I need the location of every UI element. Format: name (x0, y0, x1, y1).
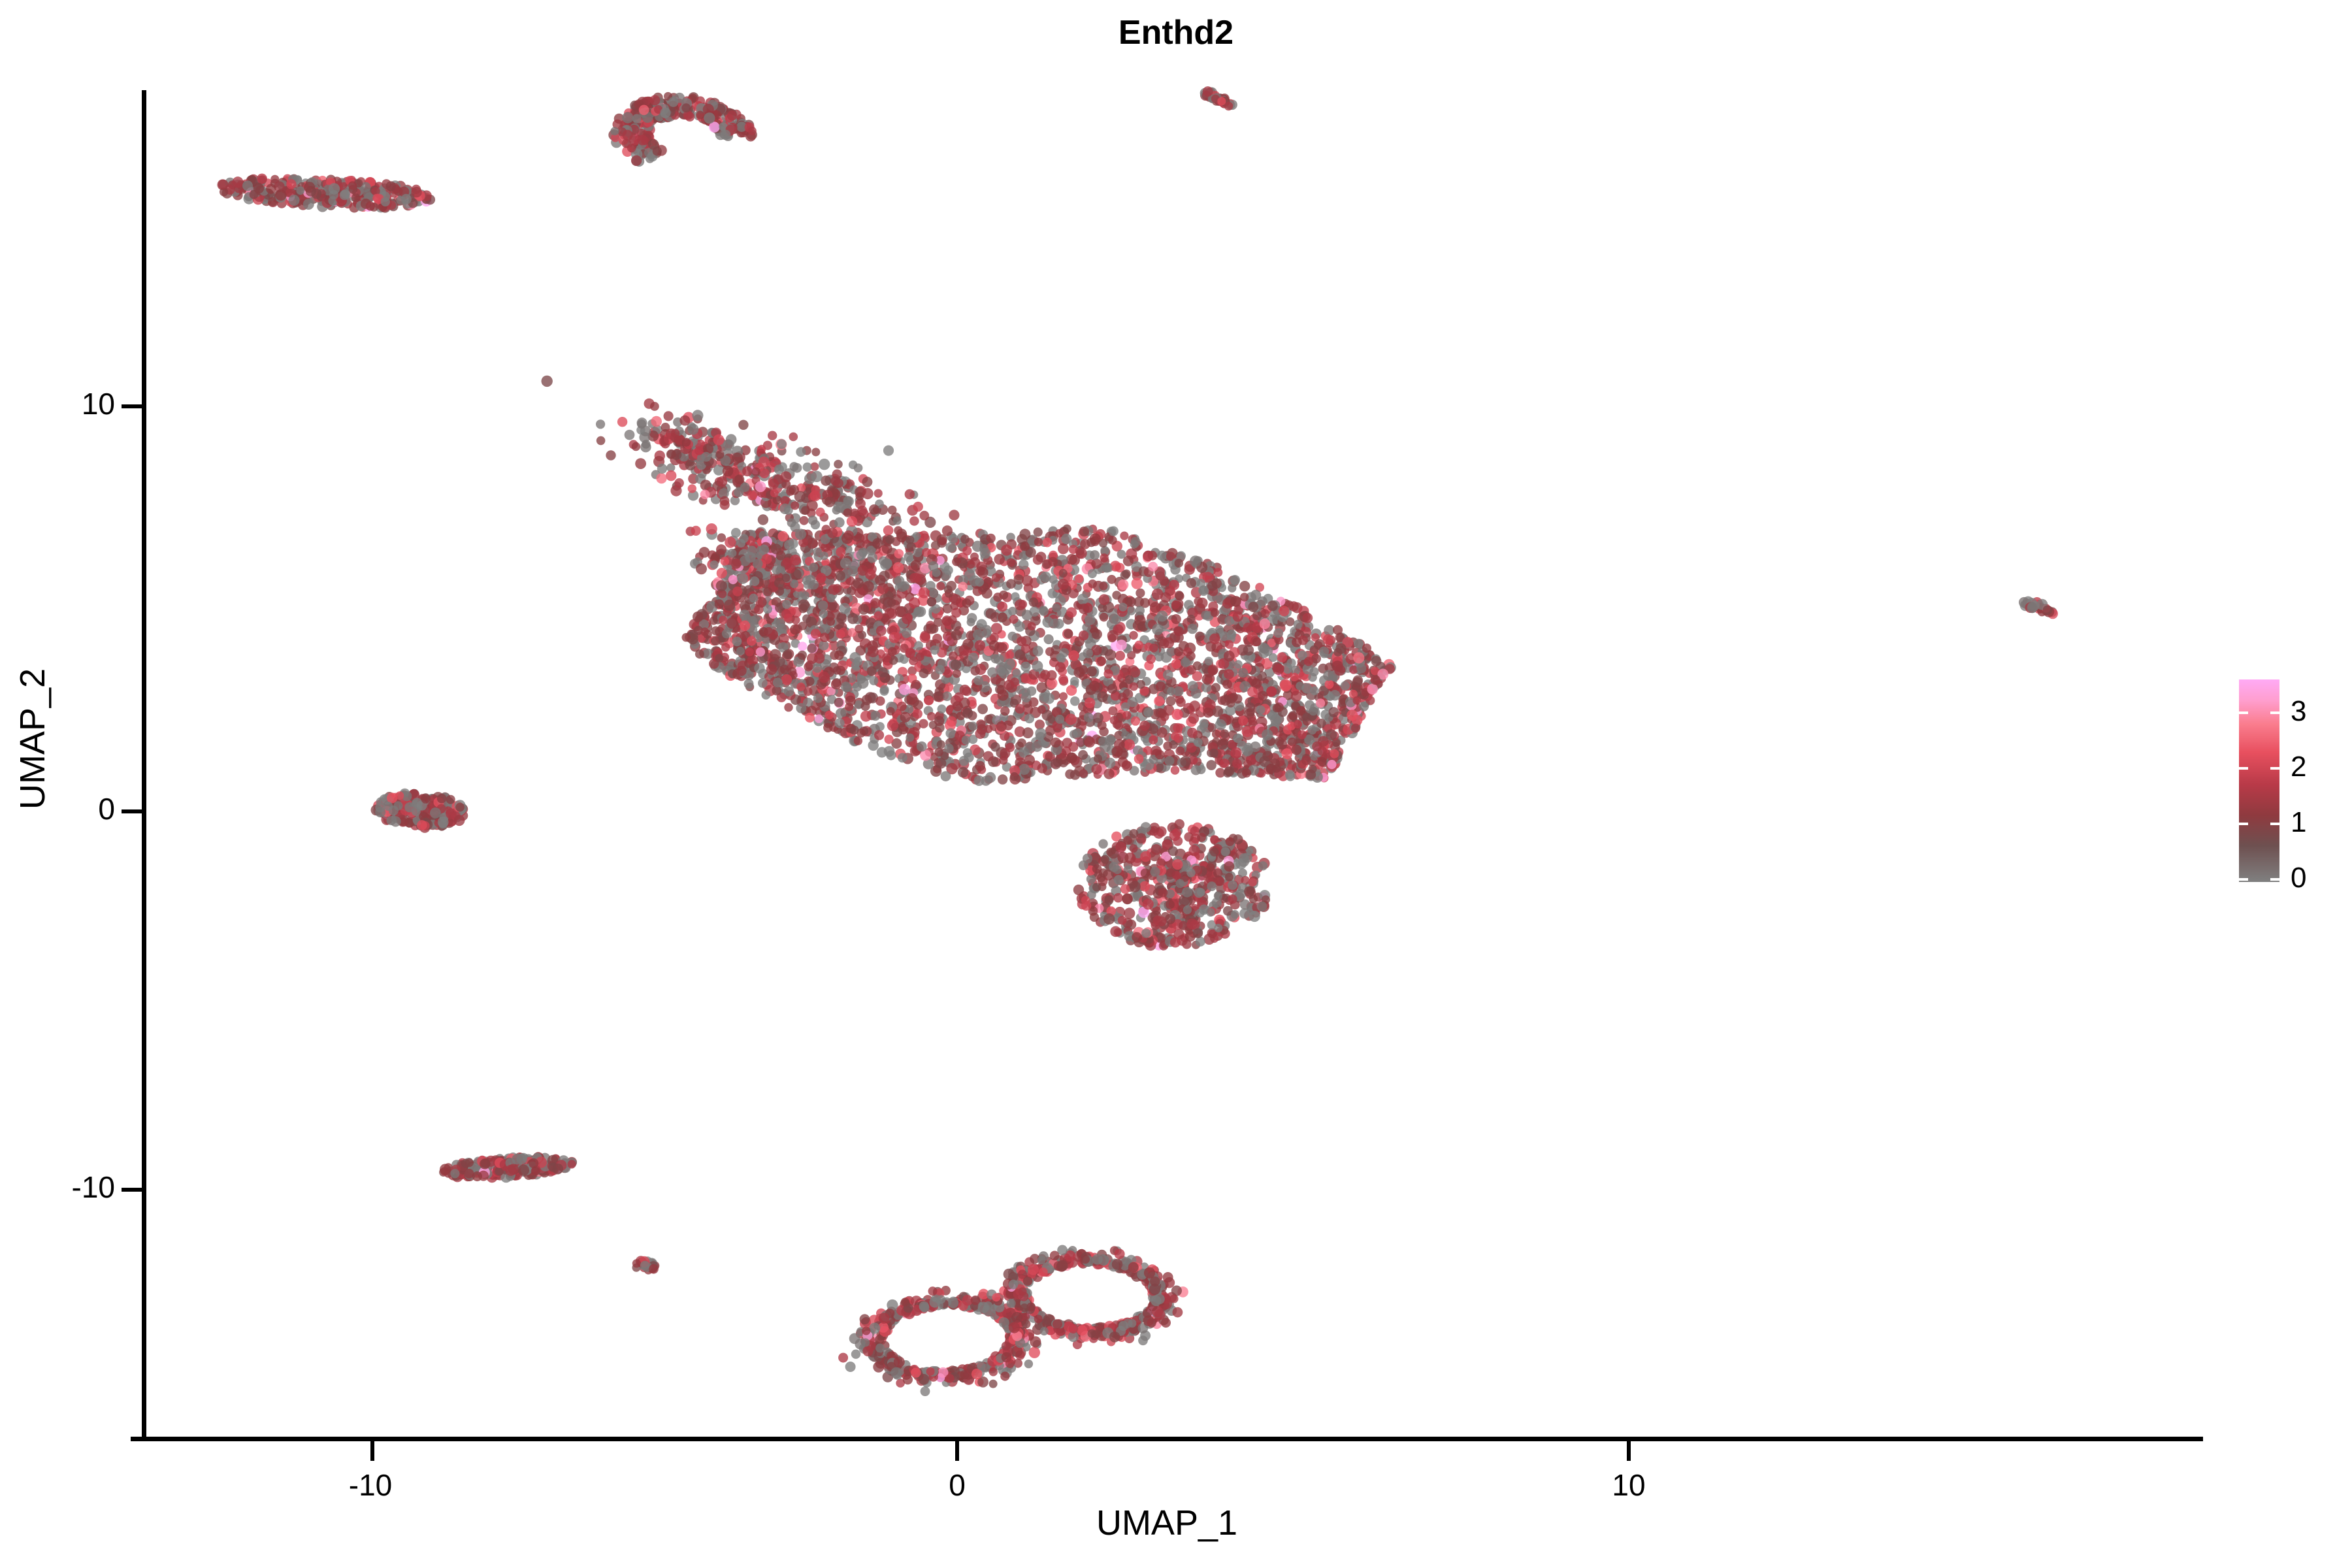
colorbar-label-3: 3 (2291, 697, 2306, 726)
y-axis-title: UMAP_2 (12, 536, 53, 941)
colorbar-label-0: 0 (2291, 864, 2306, 892)
x-tick-label--10: -10 (305, 1467, 436, 1503)
x-tick-mark-10 (1627, 1441, 1631, 1461)
x-tick-mark--10 (370, 1441, 374, 1461)
colorbar-tick-3-right (2270, 711, 2279, 714)
x-axis-line (131, 1437, 2203, 1441)
colorbar-tick-1-right (2270, 823, 2279, 825)
colorbar-gradient (2239, 679, 2279, 882)
scatter-plot-area (146, 90, 2202, 1437)
colorbar-tick-0-left (2239, 878, 2248, 881)
x-tick-label-0: 0 (892, 1467, 1022, 1503)
page-title: Enthd2 (0, 13, 2352, 52)
umap-feature-plot: Enthd2 10 0 -10 -10 0 10 UMAP_2 UMAP_1 3… (0, 0, 2352, 1568)
colorbar-label-1: 1 (2291, 808, 2306, 837)
y-tick-label--10: -10 (72, 1169, 115, 1205)
y-tick-label-10: 10 (82, 386, 115, 421)
y-tick-mark-10 (122, 404, 142, 408)
y-tick-mark-0 (122, 809, 142, 813)
y-tick-mark--10 (122, 1188, 142, 1192)
colorbar-label-2: 2 (2291, 753, 2306, 781)
colorbar-tick-2-right (2270, 767, 2279, 770)
colorbar-legend: 3 2 1 0 (2234, 679, 2345, 889)
colorbar-tick-2-left (2239, 767, 2248, 770)
colorbar-tick-3-left (2239, 711, 2248, 714)
y-axis-line (142, 90, 146, 1441)
colorbar-tick-0-right (2270, 878, 2279, 881)
x-axis-title: UMAP_1 (131, 1503, 2203, 1543)
x-tick-label-10: 10 (1563, 1467, 1694, 1503)
scatter-points-layer (146, 90, 2202, 1437)
colorbar-tick-1-left (2239, 823, 2248, 825)
y-tick-label-0: 0 (98, 791, 115, 826)
x-tick-mark-0 (955, 1441, 959, 1461)
